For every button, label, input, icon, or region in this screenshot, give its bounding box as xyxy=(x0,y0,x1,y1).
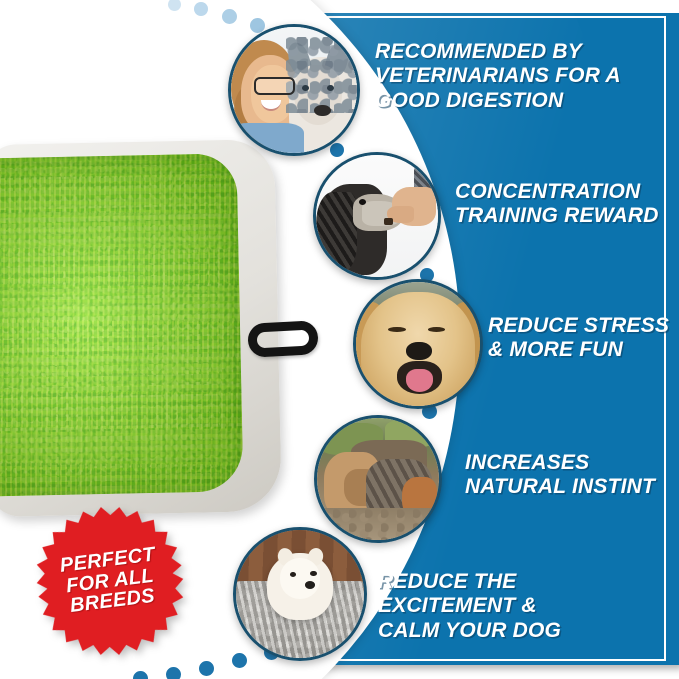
photo-scene-treat-hand-dog xyxy=(316,155,438,277)
feature-text-reduce-excitement: REDUCE THE EXCITEMENT & CALM YOUR DOG xyxy=(378,570,653,643)
dot-arc-bottom-5 xyxy=(166,667,181,679)
feature-photo-reduce-stress xyxy=(353,279,483,409)
photo-scene-vet-woman-dog xyxy=(231,27,357,153)
feature-photo-reduce-excitement xyxy=(233,527,367,661)
dot-arc-bottom-6 xyxy=(133,671,148,679)
feature-text-recommended-by-veterinarians: RECOMMENDED BY VETERINARIANS FOR A GOOD … xyxy=(375,40,635,113)
perfect-for-all-breeds-badge: PERFECT FOR ALL BREEDS xyxy=(25,496,194,665)
mat-green-chenille-surface xyxy=(0,153,244,497)
dot-arc-top-3 xyxy=(222,9,237,24)
feature-photo-concentration-training-reward xyxy=(313,152,441,280)
feature-text-increases-natural-instint: INCREASES NATURAL INSTINT xyxy=(465,451,679,500)
feature-text-reduce-stress: REDUCE STRESS & MORE FUN xyxy=(488,314,679,363)
badge-text: PERFECT FOR ALL BREEDS xyxy=(25,496,194,665)
photo-scene-golden-retriever xyxy=(356,282,480,406)
feature-text-concentration-training-reward: CONCENTRATION TRAINING REWARD xyxy=(455,180,679,229)
infographic-canvas: PERFECT FOR ALL BREEDS RECOMMENDED BY VE… xyxy=(0,0,679,679)
dot-arc-top-2 xyxy=(194,2,208,16)
mat-loop-handle xyxy=(247,320,319,358)
photo-scene-dogs-digging xyxy=(317,418,439,540)
photo-scene-pomeranian-on-mat xyxy=(236,530,364,658)
feature-photo-increases-natural-instint xyxy=(314,415,442,543)
product-snuffle-mat xyxy=(0,142,278,514)
dot-arc-bottom-4 xyxy=(199,661,214,676)
feature-photo-recommended-by-veterinarians xyxy=(228,24,360,156)
